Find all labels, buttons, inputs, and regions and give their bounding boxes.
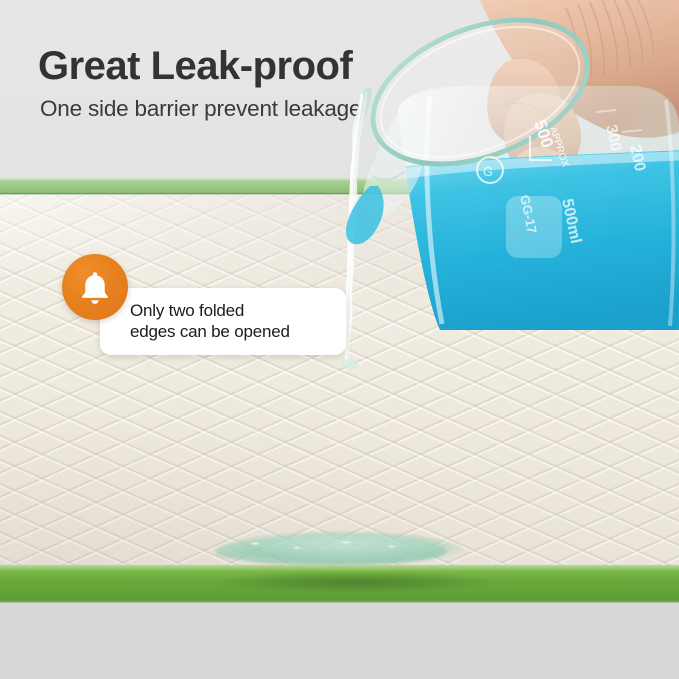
svg-text:G: G <box>483 164 493 179</box>
water-puddle-highlights <box>236 538 426 552</box>
hand-holding-beaker: 300 200 500ml GG-17 <box>330 0 679 330</box>
near-barrier-wet-shadow <box>210 571 500 593</box>
product-feature-image: Great Leak-proof One side barrier preven… <box>0 0 679 679</box>
callout-badge <box>62 254 128 320</box>
bell-icon <box>78 269 112 305</box>
page-title: Great Leak-proof <box>38 44 352 89</box>
bottom-background-band <box>0 603 679 679</box>
page-subtitle: One side barrier prevent leakage <box>40 96 361 122</box>
callout-text: Only two folded edges can be opened <box>130 300 340 342</box>
